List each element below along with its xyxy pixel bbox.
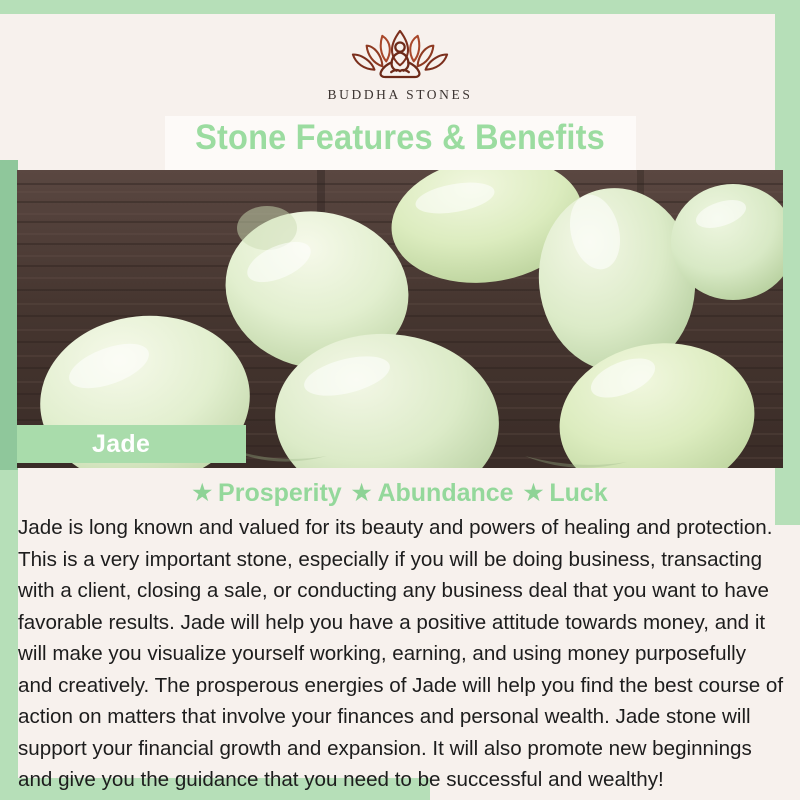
frame-left-band-dark xyxy=(0,160,18,470)
stone-name-label: Jade xyxy=(92,430,150,459)
star-icon: ★ xyxy=(192,482,212,504)
keyword-list: ★ Prosperity ★ Abundance ★ Luck xyxy=(0,478,800,508)
keyword-label: Prosperity xyxy=(218,479,342,508)
brand-name: BUDDHA STONES xyxy=(328,87,473,103)
keyword-item-luck: ★ Luck xyxy=(524,479,608,508)
lotus-meditation-icon xyxy=(346,24,454,82)
stone-photo xyxy=(17,170,783,468)
page-title: Stone Features & Benefits xyxy=(28,118,772,158)
keyword-label: Abundance xyxy=(377,479,513,508)
keyword-item-prosperity: ★ Prosperity xyxy=(192,479,341,508)
star-icon: ★ xyxy=(352,482,372,504)
stone-description-text: Jade is long known and valued for its be… xyxy=(18,512,784,796)
stone-photo-illustration xyxy=(17,170,783,468)
keyword-item-abundance: ★ Abundance xyxy=(352,479,514,508)
stone-name-banner: Jade xyxy=(17,425,246,463)
brand-logo: BUDDHA STONES xyxy=(0,0,800,118)
stone-description: Jade is long known and valued for its be… xyxy=(18,512,784,796)
infographic-card: BUDDHA STONES Stone Features & Benefits xyxy=(0,0,800,800)
star-icon: ★ xyxy=(524,482,544,504)
keyword-label: Luck xyxy=(549,479,607,508)
